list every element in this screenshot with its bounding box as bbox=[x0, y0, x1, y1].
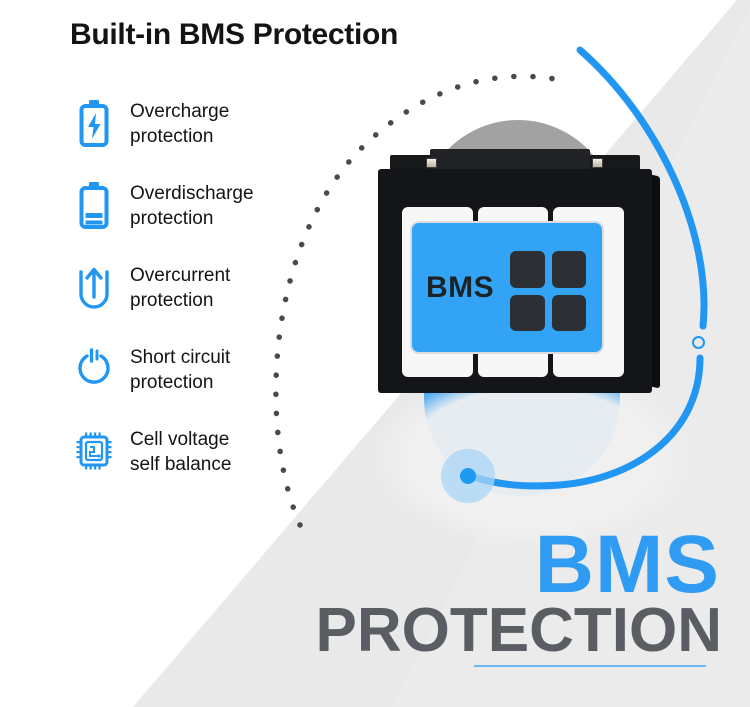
bms-board-label: BMS bbox=[426, 271, 494, 305]
current-up-arrow-icon bbox=[72, 259, 116, 315]
bms-chip bbox=[552, 251, 587, 288]
chip-balance-icon bbox=[72, 423, 116, 479]
infographic-canvas: Built-in BMS Protection Overcharge prote… bbox=[0, 0, 750, 707]
battery-low-icon bbox=[72, 177, 116, 233]
battery-top-plate bbox=[430, 149, 590, 171]
bms-board: BMS bbox=[410, 221, 604, 354]
battery-terminal-positive bbox=[592, 158, 603, 168]
feature-label-short-circuit: Short circuit protection bbox=[130, 341, 230, 395]
feature-line1: Short circuit bbox=[130, 347, 230, 368]
battery-casing: BMS bbox=[378, 169, 652, 393]
feature-line2: self balance bbox=[130, 454, 231, 475]
feature-list: Overcharge protection Overdischarge prot… bbox=[72, 95, 372, 505]
feature-label-cell-balance: Cell voltage self balance bbox=[130, 423, 231, 477]
feature-line2: protection bbox=[130, 126, 213, 147]
wordmark-bms: BMS bbox=[535, 524, 720, 606]
bms-chip-grid bbox=[510, 251, 586, 331]
power-button-icon bbox=[72, 341, 116, 397]
feature-label-overdischarge: Overdischarge protection bbox=[130, 177, 254, 231]
feature-line1: Overdischarge bbox=[130, 183, 254, 204]
feature-line2: protection bbox=[130, 208, 213, 229]
feature-line1: Overcurrent bbox=[130, 265, 230, 286]
battery-terminal-negative bbox=[426, 158, 437, 168]
feature-item-overdischarge: Overdischarge protection bbox=[72, 177, 372, 233]
feature-label-overcharge: Overcharge protection bbox=[130, 95, 229, 149]
feature-line2: protection bbox=[130, 290, 213, 311]
feature-item-cell-balance: Cell voltage self balance bbox=[72, 423, 372, 479]
feature-item-short-circuit: Short circuit protection bbox=[72, 341, 372, 397]
bms-chip bbox=[510, 251, 545, 288]
feature-label-overcurrent: Overcurrent protection bbox=[130, 259, 230, 313]
page-title: Built-in BMS Protection bbox=[70, 18, 398, 52]
wordmark-underline bbox=[474, 665, 706, 667]
battery-module-image: BMS bbox=[378, 155, 660, 395]
bms-chip bbox=[510, 295, 545, 332]
wordmark-protection: PROTECTION bbox=[316, 600, 722, 662]
feature-item-overcurrent: Overcurrent protection bbox=[72, 259, 372, 315]
feature-item-overcharge: Overcharge protection bbox=[72, 95, 372, 151]
feature-line1: Cell voltage bbox=[130, 429, 229, 450]
feature-line2: protection bbox=[130, 372, 213, 393]
feature-line1: Overcharge bbox=[130, 101, 229, 122]
battery-charging-icon bbox=[72, 95, 116, 151]
arc-endpoint-dot-icon bbox=[460, 468, 476, 484]
bms-chip bbox=[552, 295, 587, 332]
arc-node-ring-icon bbox=[692, 336, 705, 349]
